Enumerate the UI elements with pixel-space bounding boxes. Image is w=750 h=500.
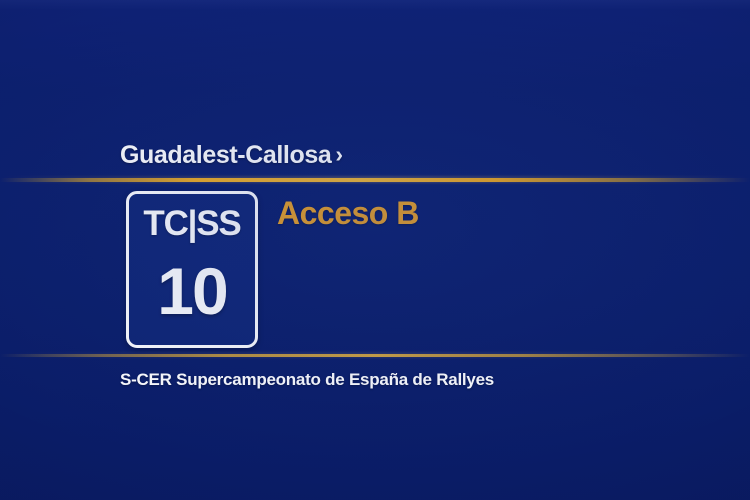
access-point-label: Acceso B [277, 194, 419, 232]
chevron-right-icon: › [335, 139, 342, 169]
gold-divider-bottom-core [0, 354, 750, 357]
rally-stage-banner: Guadalest-Callosa› TC|SS 10 Acceso B S-C… [0, 0, 750, 500]
badge-code-label: TC|SS [143, 204, 240, 244]
series-name: S-CER Supercampeonato de España de Rally… [120, 369, 494, 391]
badge-stage-number: 10 [157, 256, 226, 326]
stage-badge-plate: TC|SS 10 [126, 191, 258, 348]
stage-name-text: Guadalest-Callosa [120, 141, 331, 169]
gold-divider-bottom [0, 352, 750, 358]
gold-divider-top-core [0, 178, 750, 182]
gold-divider-top [0, 176, 750, 183]
stage-name: Guadalest-Callosa› [120, 139, 343, 170]
